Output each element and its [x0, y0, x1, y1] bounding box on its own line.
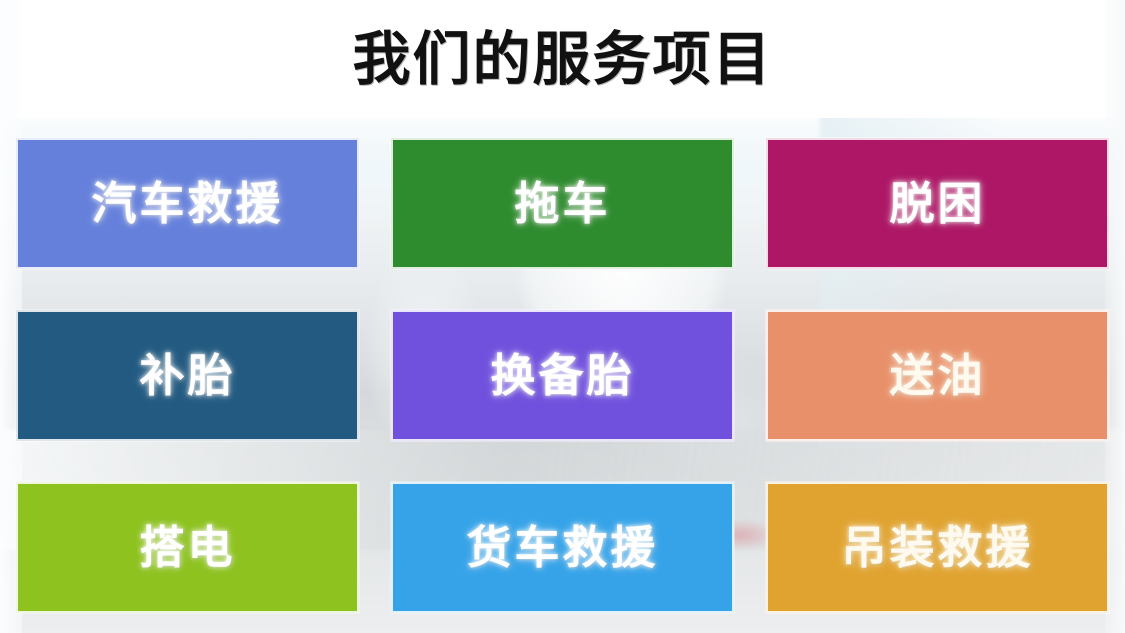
- service-tile-fuel-delivery[interactable]: 送油: [766, 310, 1109, 441]
- service-poster: 我们的服务项目 汽车救援 拖车 脱困 补胎 换备胎: [0, 0, 1125, 633]
- service-tile-extrication[interactable]: 脱困: [766, 138, 1109, 269]
- service-tile-label: 脱困: [889, 181, 985, 226]
- grid-cell: 送油: [750, 290, 1125, 462]
- grid-cell: 脱困: [750, 118, 1125, 290]
- service-tile-jump-start[interactable]: 搭电: [16, 482, 359, 613]
- service-tile-towing[interactable]: 拖车: [391, 138, 734, 269]
- service-tile-car-rescue[interactable]: 汽车救援: [16, 138, 359, 269]
- service-tile-tire-repair[interactable]: 补胎: [16, 310, 359, 441]
- service-tile-label: 搭电: [139, 525, 235, 570]
- service-tile-label: 补胎: [139, 353, 235, 398]
- service-tile-label: 货车救援: [466, 525, 658, 570]
- grid-cell: 搭电: [0, 461, 375, 633]
- service-tile-label: 换备胎: [490, 353, 634, 398]
- grid-cell: 补胎: [0, 290, 375, 462]
- page-title: 我们的服务项目: [352, 30, 772, 88]
- grid-cell: 汽车救援: [0, 118, 375, 290]
- service-tile-label: 送油: [889, 353, 985, 398]
- grid-cell: 拖车: [375, 118, 750, 290]
- service-tile-label: 拖车: [514, 181, 610, 226]
- service-grid: 汽车救援 拖车 脱困 补胎 换备胎 送油: [0, 118, 1125, 633]
- grid-cell: 货车救援: [375, 461, 750, 633]
- service-tile-truck-rescue[interactable]: 货车救援: [391, 482, 734, 613]
- service-tile-spare-tire-change[interactable]: 换备胎: [391, 310, 734, 441]
- grid-cell: 换备胎: [375, 290, 750, 462]
- service-tile-hoisting-rescue[interactable]: 吊装救援: [766, 482, 1109, 613]
- service-tile-label: 汽车救援: [91, 181, 283, 226]
- page-header: 我们的服务项目: [0, 0, 1125, 118]
- grid-cell: 吊装救援: [750, 461, 1125, 633]
- service-tile-label: 吊装救援: [841, 525, 1033, 570]
